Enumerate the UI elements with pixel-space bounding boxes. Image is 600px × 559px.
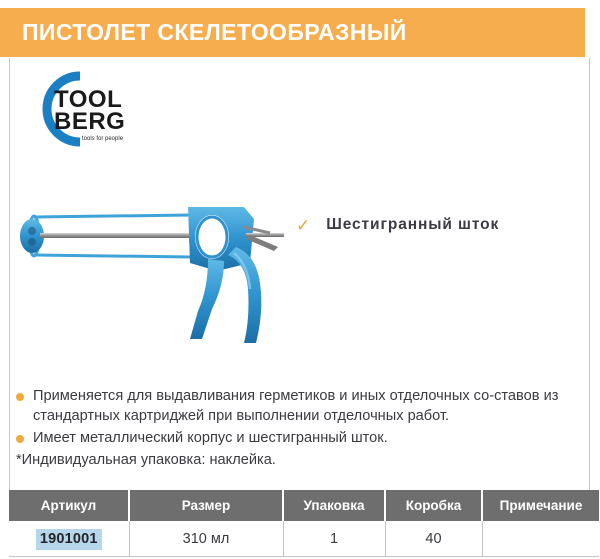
cell-size: 310 мл: [129, 521, 283, 557]
list-item: Применяется для выдавливания герметиков …: [16, 386, 584, 426]
cell-note: [482, 521, 599, 557]
svg-text:BERG: BERG: [54, 108, 125, 135]
column-header-box: Коробка: [385, 490, 482, 521]
list-item-text: Имеет металлический корпус и шестигранны…: [33, 428, 388, 448]
page-title-bar: ПИСТОЛЕТ СКЕЛЕТООБРАЗНЫЙ: [0, 8, 585, 57]
table-row: 1901001 310 мл 1 40: [9, 521, 599, 557]
description-list: Применяется для выдавливания герметиков …: [16, 386, 584, 470]
list-item-text: Применяется для выдавливания герметиков …: [33, 386, 584, 426]
sku-value[interactable]: 1901001: [36, 529, 102, 550]
cell-box: 40: [385, 521, 482, 557]
product-photo: [12, 193, 292, 348]
cell-sku[interactable]: 1901001: [9, 521, 129, 557]
bullet-dot-icon: [16, 393, 24, 401]
column-header-note: Примечание: [482, 490, 599, 521]
svg-text:tools for people: tools for people: [82, 136, 124, 142]
column-header-size: Размер: [129, 490, 283, 521]
feature-label: Шестигранный шток: [326, 216, 499, 234]
column-header-pack: Упаковка: [283, 490, 385, 521]
page-title: ПИСТОЛЕТ СКЕЛЕТООБРАЗНЫЙ: [0, 19, 407, 46]
feature-callout: ✓ Шестигранный шток: [296, 216, 499, 234]
column-header-sku: Артикул: [9, 490, 129, 521]
caulking-gun-image: [12, 193, 292, 348]
specification-table: Артикул Размер Упаковка Коробка Примечан…: [9, 490, 599, 557]
cell-pack: 1: [283, 521, 385, 557]
product-datasheet-page: ПИСТОЛЕТ СКЕЛЕТООБРАЗНЫЙ TOOL BERG tools…: [0, 0, 600, 559]
packaging-note: *Индивидуальная упаковка: наклейка.: [16, 450, 584, 470]
toolberg-logo-icon: TOOL BERG tools for people: [18, 68, 148, 150]
table-header-row: Артикул Размер Упаковка Коробка Примечан…: [9, 490, 599, 521]
brand-logo: TOOL BERG tools for people: [18, 68, 148, 150]
list-item: Имеет металлический корпус и шестигранны…: [16, 428, 584, 448]
bullet-dot-icon: [16, 435, 24, 443]
check-icon: ✓: [296, 217, 310, 234]
content-panel: TOOL BERG tools for people: [9, 58, 590, 490]
